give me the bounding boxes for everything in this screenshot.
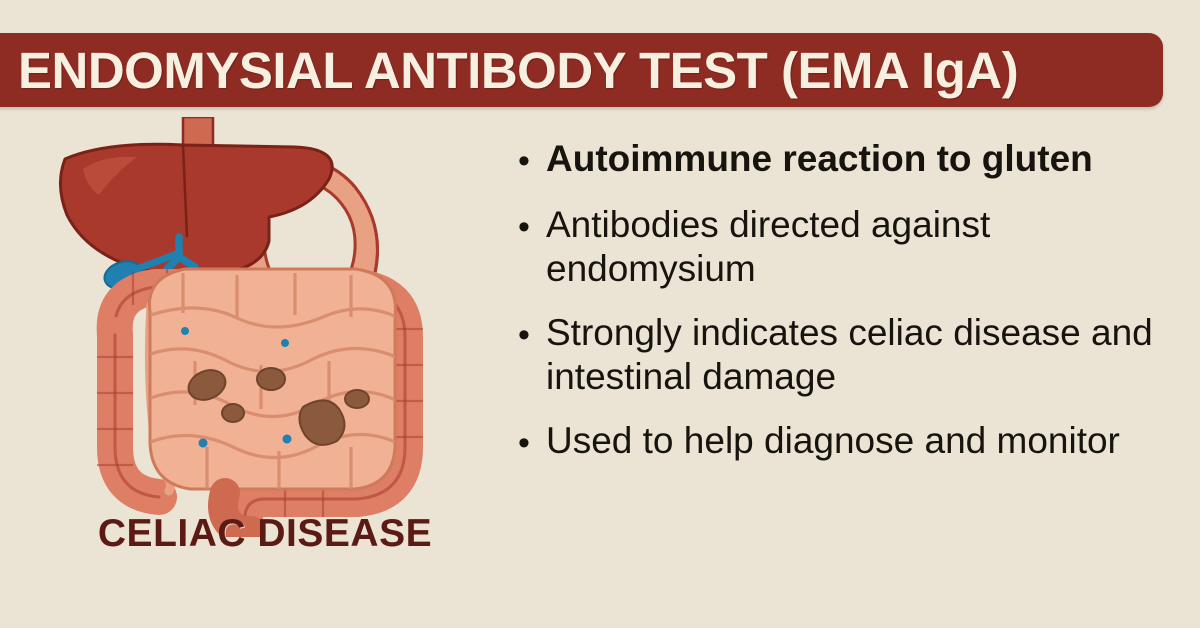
- bullet-item: • Used to help diagnose and monitor: [518, 419, 1178, 465]
- bullet-text: Antibodies directed against endomysium: [546, 203, 1178, 291]
- digestive-system-illustration: [55, 117, 475, 537]
- anatomy-svg: [55, 117, 475, 537]
- small-intestine-shape: [143, 269, 405, 489]
- bullet-item: • Antibodies directed against endomysium: [518, 203, 1178, 291]
- bullet-text: Strongly indicates celiac disease and in…: [546, 311, 1178, 399]
- content-area: CELIAC DISEASE • Autoimmune reaction to …: [0, 107, 1200, 628]
- bullet-marker-icon: •: [518, 139, 546, 183]
- bullet-list: • Autoimmune reaction to gluten • Antibo…: [518, 137, 1178, 485]
- bullet-text: Autoimmune reaction to gluten: [546, 137, 1178, 181]
- liver-shape: [60, 144, 332, 275]
- title-banner: ENDOMYSIAL ANTIBODY TEST (EMA IgA): [0, 33, 1163, 107]
- bullet-item: • Autoimmune reaction to gluten: [518, 137, 1178, 183]
- bullet-marker-icon: •: [518, 205, 546, 249]
- bullet-marker-icon: •: [518, 421, 546, 465]
- bullet-marker-icon: •: [518, 313, 546, 357]
- page-title: ENDOMYSIAL ANTIBODY TEST (EMA IgA): [18, 45, 1018, 96]
- bullet-item: • Strongly indicates celiac disease and …: [518, 311, 1178, 399]
- bullet-text: Used to help diagnose and monitor: [546, 419, 1178, 463]
- illustration-caption: CELIAC DISEASE: [55, 512, 475, 556]
